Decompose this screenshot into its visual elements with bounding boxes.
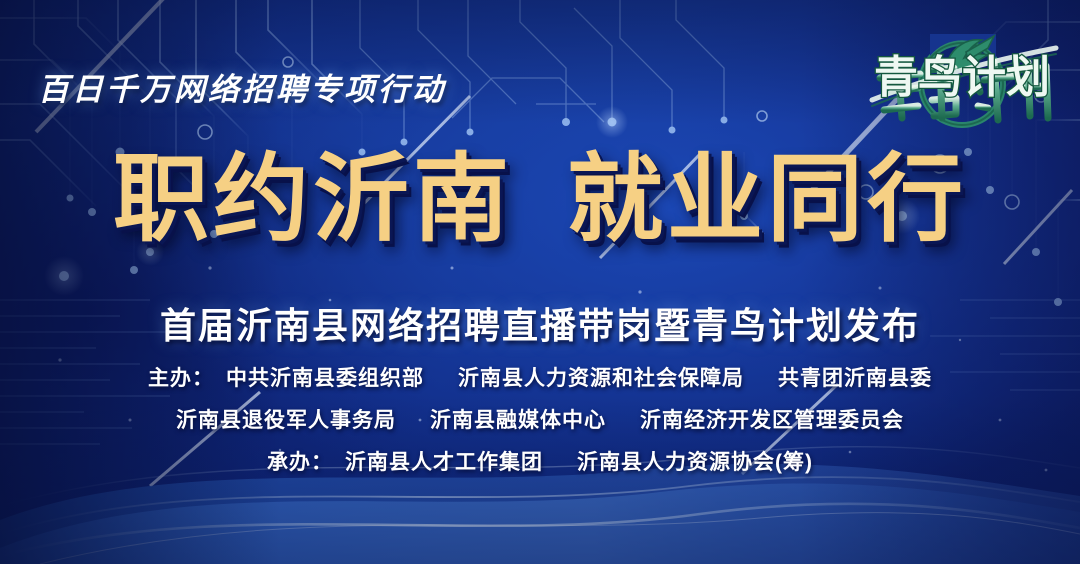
organizer-item: 中共沂南县委组织部: [226, 367, 424, 390]
headline-part-1: 职约沂南: [113, 146, 513, 253]
organizer-block: 主办：中共沂南县委组织部沂南县人力资源和社会保障局共青团沂南县委 沂南县退役军人…: [0, 368, 1080, 494]
organizer-item: 沂南县退役军人事务局: [176, 409, 396, 432]
content-layer: 百日千万网络招聘专项行动 职约沂南就业同行 首届沂南县网络招聘直播带岗暨青鸟计划…: [0, 0, 1080, 564]
organizer-item: 沂南县人力资源和社会保障局: [458, 367, 744, 390]
qingniao-plan-logo: 青鸟计划: [862, 22, 1062, 140]
qingniao-logo-mark: 青鸟计划: [862, 22, 1062, 140]
campaign-kicker: 百日千万网络招聘专项行动: [38, 64, 446, 109]
organizer-item: 共青团沂南县委: [778, 367, 932, 390]
organizer-item: 沂南县人才工作集团: [345, 451, 543, 474]
recruitment-banner: 百日千万网络招聘专项行动 职约沂南就业同行 首届沂南县网络招聘直播带岗暨青鸟计划…: [0, 0, 1080, 564]
organizer-line-coorganizers: 承办：沂南县人才工作集团沂南县人力资源协会(筹): [0, 452, 1080, 473]
logo-wordmark: 青鸟计划: [874, 53, 1050, 102]
event-subtitle: 首届沂南县网络招聘直播带岗暨青鸟计划发布: [0, 297, 1080, 349]
organizer-line-hosts: 主办：中共沂南县委组织部沂南县人力资源和社会保障局共青团沂南县委: [0, 368, 1080, 389]
organizer-label-host: 主办：: [148, 367, 214, 390]
page-title: 职约沂南就业同行: [0, 152, 1080, 248]
organizer-item: 沂南县人力资源协会(筹): [577, 451, 813, 474]
organizer-item: 沂南县融媒体中心: [430, 409, 606, 432]
organizer-label-coorganizer: 承办：: [267, 451, 333, 474]
organizer-line-hosts-continued: 沂南县退役军人事务局沂南县融媒体中心沂南经济开发区管理委员会: [0, 410, 1080, 431]
headline-part-2: 就业同行: [567, 146, 967, 253]
organizer-item: 沂南经济开发区管理委员会: [640, 409, 904, 432]
